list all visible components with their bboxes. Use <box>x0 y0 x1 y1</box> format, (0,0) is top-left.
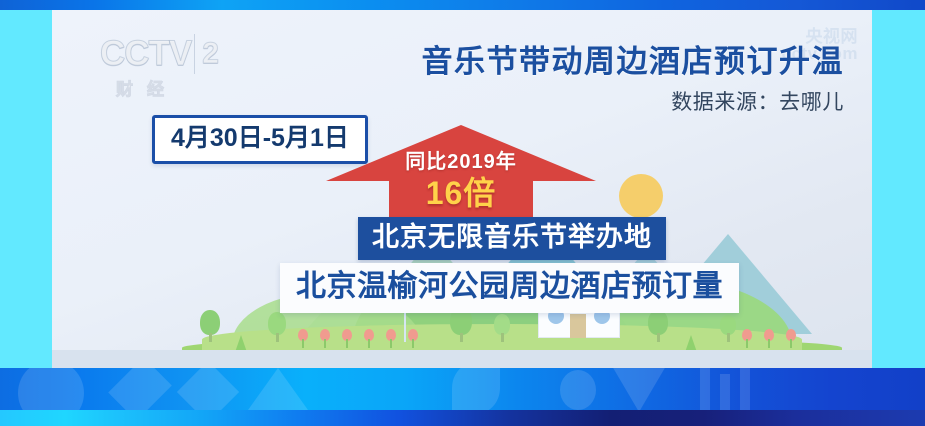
flower-icon <box>742 328 752 348</box>
broadcast-graphic-screen: CCTV2 财经 央视网 cctv.com 音乐节带动周边酒店预订升温 数据来源… <box>0 0 925 426</box>
metric-label: 北京温榆河公园周边酒店预订量 <box>296 269 723 305</box>
flower-icon <box>342 328 352 348</box>
top-accent-strip <box>0 0 925 10</box>
flower-icon <box>364 328 374 348</box>
cctv-logo-channel-number: 2 <box>194 34 227 74</box>
tree-icon <box>200 310 220 342</box>
banner-decor-shape <box>560 370 596 410</box>
flower-icon <box>386 328 396 348</box>
left-cyan-band <box>0 10 52 368</box>
tree-icon <box>268 312 286 342</box>
main-content-panel: CCTV2 财经 央视网 cctv.com 音乐节带动周边酒店预订升温 数据来源… <box>52 10 872 368</box>
tree-icon <box>494 314 510 342</box>
tree-icon <box>720 316 736 342</box>
banner-decor-shape <box>720 374 730 410</box>
cctv-logo-subtitle: 财经 <box>116 75 240 100</box>
flower-icon <box>320 328 330 348</box>
banner-decor-shape <box>700 368 710 410</box>
data-source-label: 数据来源：去哪儿 <box>671 90 844 116</box>
flower-icon <box>786 328 796 348</box>
banner-decor-shape <box>740 368 750 410</box>
bottom-accent-banner <box>0 368 925 426</box>
banner-decor-shape <box>248 368 308 410</box>
cctv-logo: CCTV2 财经 <box>100 34 240 102</box>
page-title: 音乐节带动周边酒店预订升温 <box>422 44 845 80</box>
venue-label: 北京无限音乐节举办地 <box>372 221 652 254</box>
tree-icon <box>648 310 668 342</box>
metric-banner: 北京温榆河公园周边酒店预订量 <box>280 263 739 313</box>
right-cyan-band <box>872 10 925 368</box>
flower-icon <box>408 328 418 348</box>
flower-icon <box>764 328 774 348</box>
growth-value: 16倍 <box>326 174 596 212</box>
flower-icon <box>298 328 308 348</box>
water-band <box>52 350 872 368</box>
watermark-line-1: 央视网 <box>782 28 858 45</box>
cctv-logo-wordmark: CCTV <box>100 34 191 73</box>
comparison-label: 同比2019年 <box>326 150 596 174</box>
bottom-gradient-strip <box>0 410 925 426</box>
banner-decor-shape <box>612 368 666 412</box>
sun-icon <box>619 174 663 218</box>
venue-banner: 北京无限音乐节举办地 <box>358 217 666 260</box>
banner-decor-shape <box>452 368 500 414</box>
growth-arrow-up-icon: 同比2019年 16倍 <box>326 125 596 230</box>
date-range-label: 4月30日-5月1日 <box>171 125 349 152</box>
